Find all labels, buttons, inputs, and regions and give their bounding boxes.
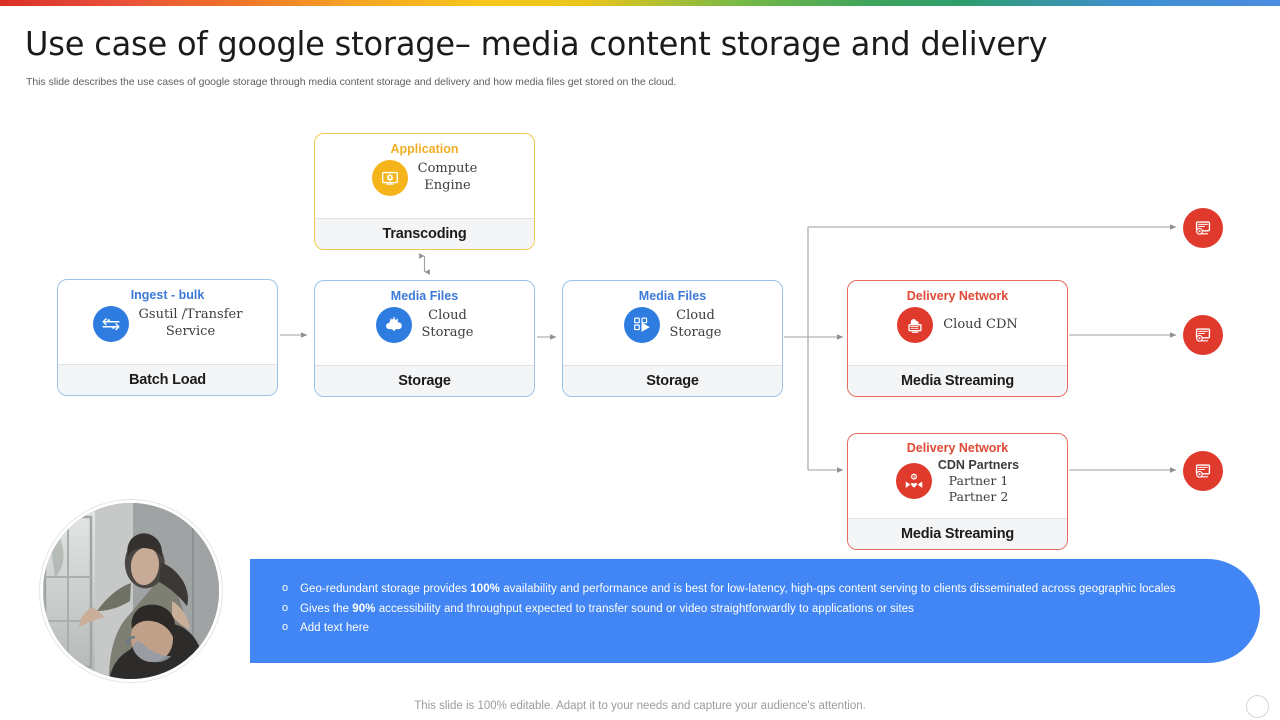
media-device-icon [1192, 324, 1214, 346]
node-application[interactable]: Application ComputeEngine Transcoding [314, 133, 535, 250]
footer-note: This slide is 100% editable. Adapt it to… [0, 700, 1280, 712]
cloud-storage-icon [376, 307, 412, 343]
node-media-files-1-body: Media Files CloudStorage [315, 281, 534, 365]
node-media-files-1-row: CloudStorage [315, 307, 534, 343]
node-delivery-cdn[interactable]: Delivery Network Cloud CDN Media Streami… [847, 280, 1068, 397]
list-item: oGeo-redundant storage provides 100% ava… [278, 581, 1220, 598]
cloud-storage-transfer-icon [624, 307, 660, 343]
key-points-banner: oGeo-redundant storage provides 100% ava… [250, 559, 1260, 663]
node-delivery-partners-label: CDN Partners Partner 1 Partner 2 [938, 457, 1019, 506]
node-delivery-partners-body: Delivery Network $ CDN Partners Partner … [848, 434, 1067, 518]
list-item: oGives the 90% accessibility and through… [278, 601, 1220, 618]
node-media-files-2-row: CloudStorage [563, 307, 782, 343]
node-ingest-footer: Batch Load [58, 364, 277, 395]
transfer-service-icon [93, 306, 129, 342]
cdn-partners-icon: $ [896, 463, 932, 499]
media-device-icon [1192, 217, 1214, 239]
node-media-files-1-label: CloudStorage [422, 308, 474, 341]
page-subtitle: This slide describes the use cases of go… [26, 76, 676, 88]
cloud-cdn-icon [897, 307, 933, 343]
node-delivery-cdn-header: Delivery Network [907, 289, 1008, 305]
node-ingest-row: Gsutil /TransferService [58, 306, 277, 342]
node-media-files-1-header: Media Files [391, 289, 458, 305]
node-application-footer: Transcoding [315, 218, 534, 249]
bullet-2-strong: 90% [352, 603, 375, 615]
node-ingest-label: Gsutil /TransferService [139, 307, 243, 340]
node-application-body: Application ComputeEngine [315, 134, 534, 218]
bullet-2-post: accessibility and throughput expected to… [375, 603, 914, 615]
node-application-row: ComputeEngine [315, 160, 534, 196]
media-device-icon [1192, 460, 1214, 482]
node-media-files-1-footer: Storage [315, 365, 534, 396]
bullet-1-pre: Geo-redundant storage provides [300, 583, 470, 595]
bullet-marker: o [282, 620, 288, 636]
slide-root: Use case of google storage– media conten… [0, 0, 1280, 720]
node-delivery-partners-row: $ CDN Partners Partner 1 Partner 2 [848, 457, 1067, 506]
node-delivery-cdn-row: Cloud CDN [848, 307, 1067, 343]
node-delivery-partners[interactable]: Delivery Network $ CDN Partners Partner … [847, 433, 1068, 550]
node-ingest-header: Ingest - bulk [131, 288, 205, 304]
node-delivery-partners-header: Delivery Network [907, 441, 1008, 457]
node-media-files-1[interactable]: Media Files CloudStorage Storage [314, 280, 535, 397]
node-media-files-2-footer: Storage [563, 365, 782, 396]
brand-gradient-bar [0, 0, 1280, 6]
node-ingest[interactable]: Ingest - bulk Gsutil /TransferService Ba… [57, 279, 278, 396]
bullet-1-strong: 100% [470, 583, 500, 595]
people-photo [43, 503, 219, 679]
node-application-label: ComputeEngine [418, 161, 478, 194]
bullet-marker: o [282, 581, 288, 597]
bullet-marker: o [282, 601, 288, 617]
photo-avatar [40, 500, 222, 682]
node-delivery-cdn-footer: Media Streaming [848, 365, 1067, 396]
node-delivery-partners-footer: Media Streaming [848, 518, 1067, 549]
node-media-files-2-body: Media Files CloudStorage [563, 281, 782, 365]
bullet-3-pre[interactable]: Add text here [300, 622, 369, 634]
endpoint-top[interactable] [1183, 208, 1223, 248]
node-media-files-2-header: Media Files [639, 289, 706, 305]
bullet-1-post: availability and performance and is best… [500, 583, 1176, 595]
page-title: Use case of google storage– media conten… [25, 24, 1047, 63]
node-media-files-2[interactable]: Media Files CloudStorage Storage [562, 280, 783, 397]
bullet-2-pre: Gives the [300, 603, 352, 615]
endpoint-middle[interactable] [1183, 315, 1223, 355]
node-delivery-cdn-label: Cloud CDN [943, 317, 1018, 333]
node-delivery-cdn-body: Delivery Network Cloud CDN [848, 281, 1067, 365]
node-ingest-body: Ingest - bulk Gsutil /TransferService [58, 280, 277, 364]
node-media-files-2-label: CloudStorage [670, 308, 722, 341]
compute-engine-icon [372, 160, 408, 196]
key-points-list: oGeo-redundant storage provides 100% ava… [250, 559, 1260, 637]
corner-logo-icon [1246, 695, 1269, 718]
endpoint-bottom[interactable] [1183, 451, 1223, 491]
list-item[interactable]: oAdd text here [278, 620, 1220, 637]
node-application-header: Application [390, 142, 458, 158]
